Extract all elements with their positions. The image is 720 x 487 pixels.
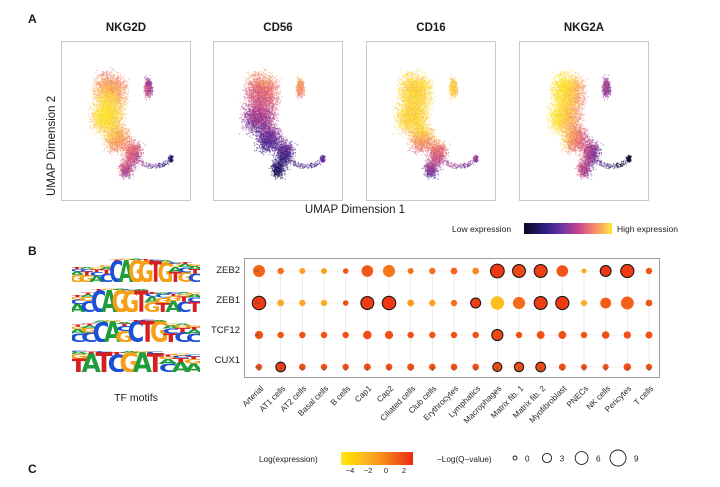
dot-row-label-cux1: CUX1: [196, 355, 240, 366]
umap-x-axis-label: UMAP Dimension 1: [245, 204, 465, 216]
panel-c-letter: C: [28, 462, 37, 476]
panel-b-letter: B: [28, 244, 37, 258]
panel-a-letter: A: [28, 12, 37, 26]
log-expression-tick: −4: [341, 466, 359, 475]
dot-row-label-tcf12: TCF12: [196, 325, 240, 336]
q-value-size-legend: 0369: [507, 444, 647, 472]
umap-plot-cd16[interactable]: [366, 41, 496, 201]
dot-row-label-zeb2: ZEB2: [196, 265, 240, 276]
log-expression-colorbar: [341, 452, 413, 465]
umap-title-0: NKG2D: [61, 22, 191, 34]
motif-logo-tcf12: CAGTCGATCAAGGCTACTTCGATCAGCTGACATG: [72, 318, 200, 342]
umap-title-2: CD16: [366, 22, 496, 34]
umap-y-axis-label: UMAP Dimension 2: [46, 96, 58, 196]
umap-title-3: NKG2A: [519, 22, 649, 34]
dot-plot-x-axis: ArterialAT1 cellsAT2 cellsBasal cellsB c…: [244, 380, 660, 440]
umap-plot-nkg2a[interactable]: [519, 41, 649, 201]
log-expression-tick: 0: [377, 466, 395, 475]
motif-logo-cux1: TGACATTCCTGAAGTCCAGTATCGAGTC: [72, 348, 200, 372]
umap-plot-cd56[interactable]: [213, 41, 343, 201]
q-value-legend-label: −Log(Q−value): [437, 455, 492, 464]
umap-canvas-0: [62, 42, 190, 200]
umap-canvas-1: [214, 42, 342, 200]
motif-logo-zeb2: GACTGTCAACTGCTAGCTAGGAGTTCGATAGCGCATCTAG: [72, 258, 200, 282]
motif-logo-zeb1: ACGTCGATCTAGGAGCTAGACTTGCAAGTCCTGATCAG: [72, 288, 200, 312]
dot-plot[interactable]: [244, 258, 660, 378]
log-expression-ticks: −4−202: [341, 466, 413, 478]
log-expression-tick: −2: [359, 466, 377, 475]
tf-motifs-axis-label: TF motifs: [76, 392, 196, 404]
dot-row-label-zeb1: ZEB1: [196, 295, 240, 306]
umap-canvas-2: [367, 42, 495, 200]
log-expression-tick: 2: [395, 466, 413, 475]
expression-high-label: High expression: [617, 224, 678, 234]
expression-colorbar: [524, 223, 612, 234]
log-expression-legend-label: Log(expression): [259, 455, 318, 464]
dot-plot-canvas: [245, 259, 659, 377]
umap-canvas-3: [520, 42, 648, 200]
umap-plot-nkg2d[interactable]: [61, 41, 191, 201]
umap-title-1: CD56: [213, 22, 343, 34]
expression-low-label: Low expression: [452, 224, 511, 234]
